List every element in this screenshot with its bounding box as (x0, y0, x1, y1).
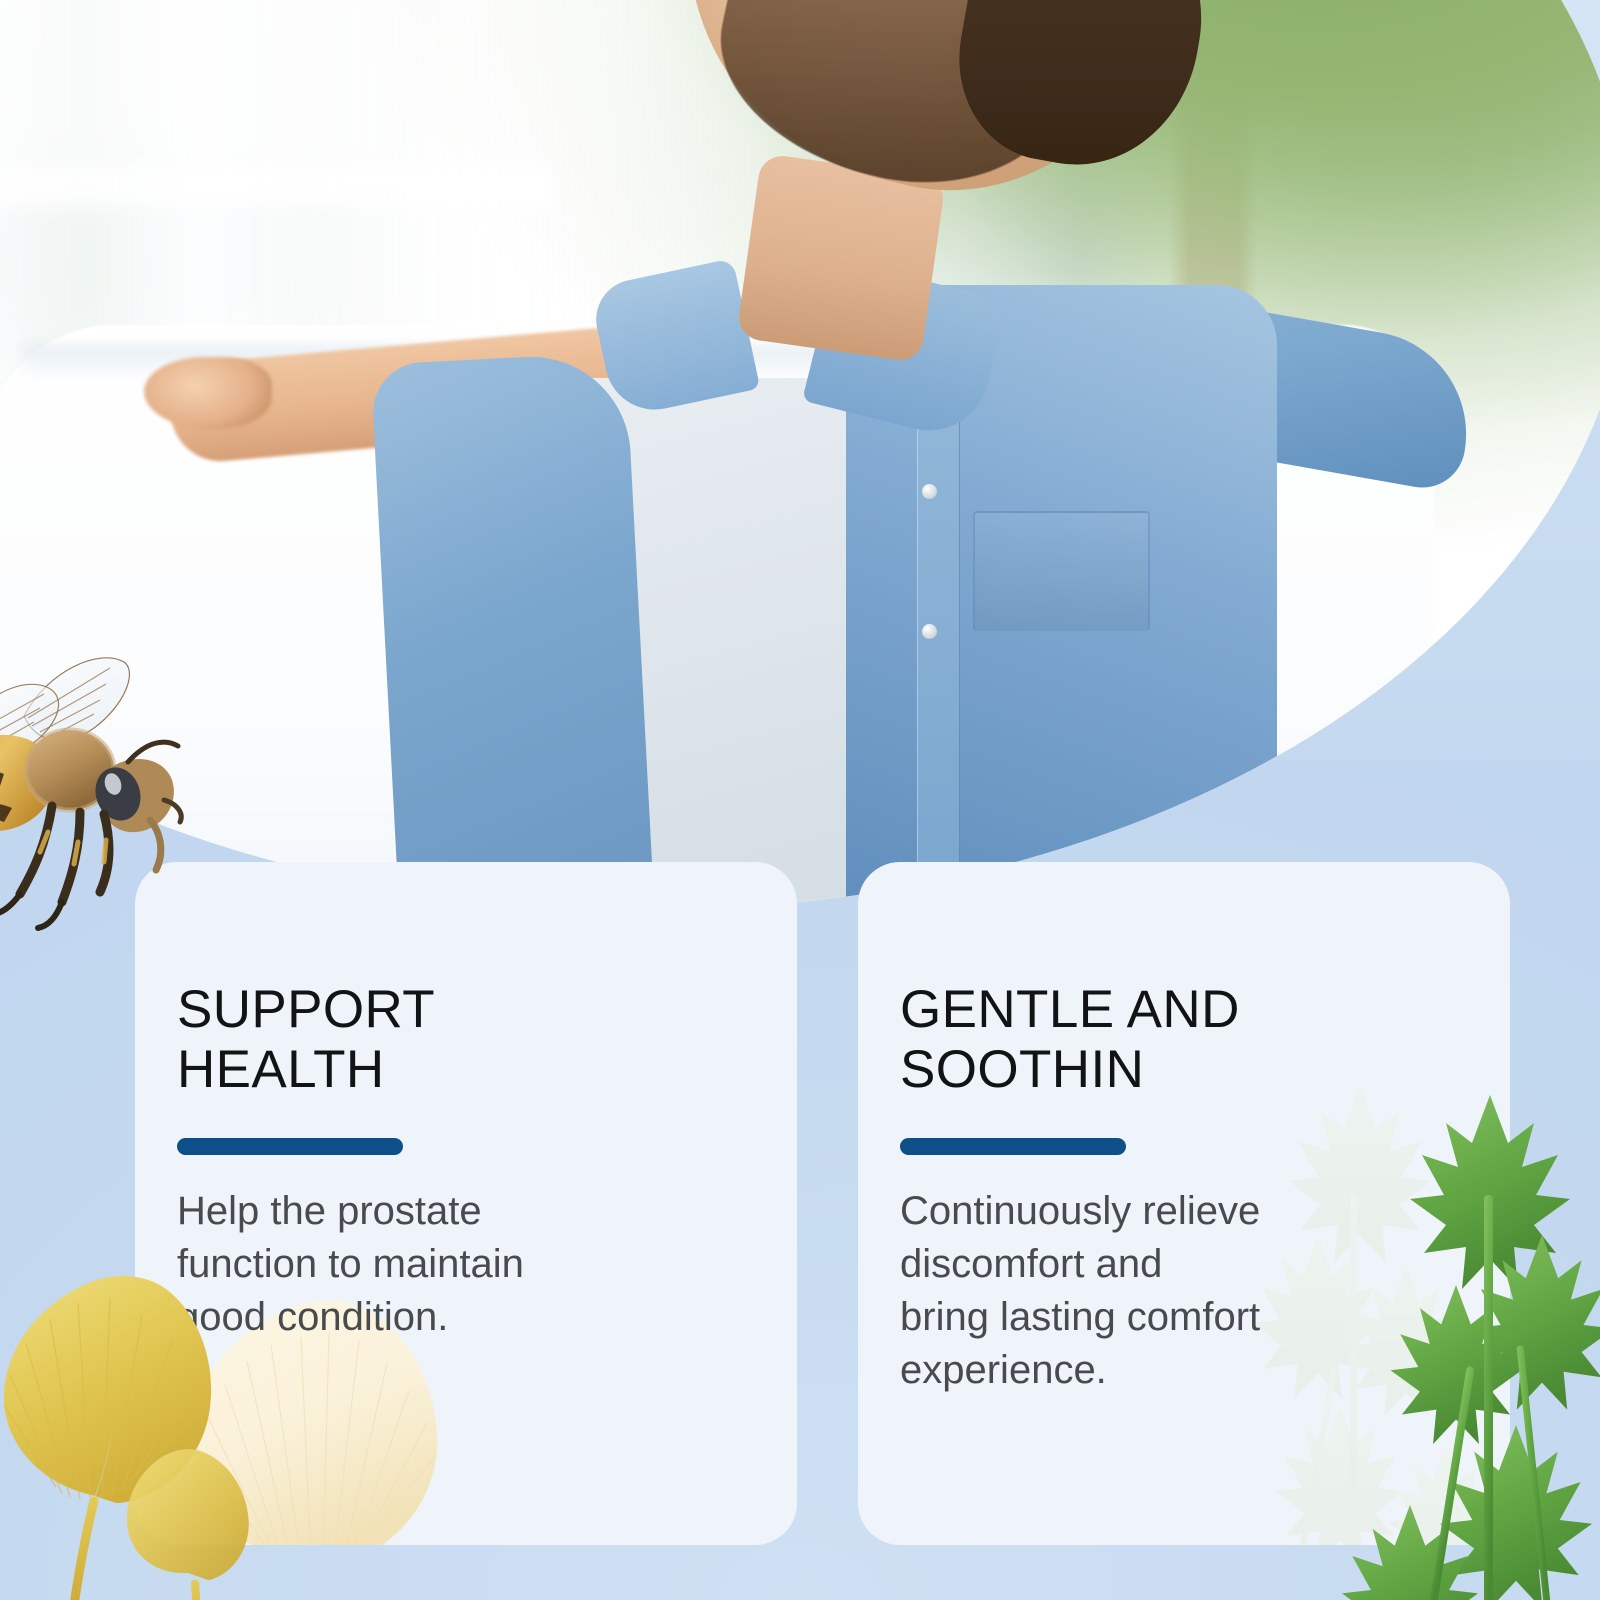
card-title: SUPPORT HEALTH (177, 980, 797, 1100)
hero-photo (0, 0, 1600, 910)
denim-shirt-left-panel (371, 352, 655, 910)
card-title: GENTLE AND SOOTHIN (900, 980, 1510, 1100)
accent-bar (900, 1138, 1126, 1155)
feature-card-gentle-and-soothin[interactable]: GENTLE AND SOOTHIN Continuously relieve … (858, 862, 1510, 1545)
card-body-text: Help the prostate function to maintain g… (177, 1185, 677, 1344)
card-body-text: Continuously relieve discomfort and brin… (900, 1185, 1400, 1397)
accent-bar (177, 1138, 403, 1155)
left-hand (144, 357, 271, 429)
hero-photo-scene (0, 0, 1600, 910)
person-figure (0, 0, 1600, 910)
shirt-pocket (973, 511, 1149, 631)
feature-card-support-health[interactable]: SUPPORT HEALTH Help the prostate functio… (135, 862, 797, 1545)
